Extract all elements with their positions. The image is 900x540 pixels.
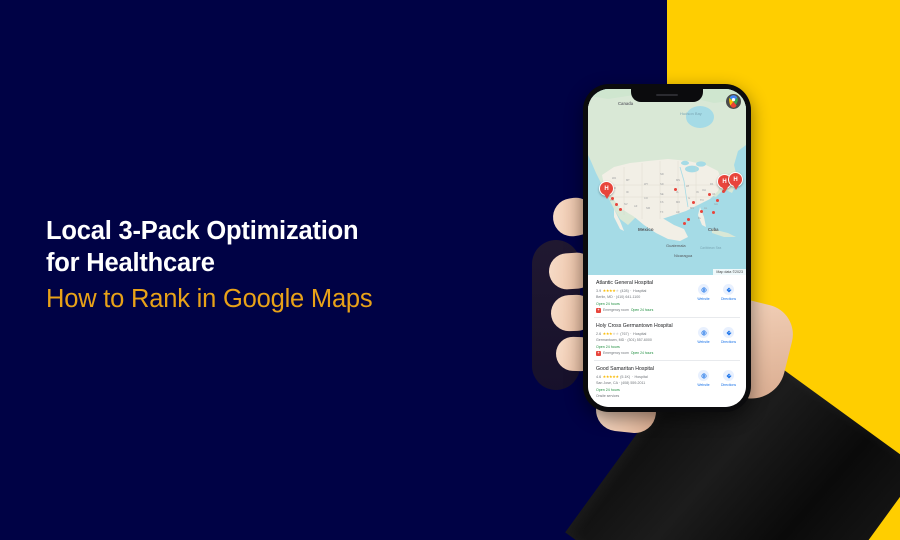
star-rating-icon: ★★★★★ xyxy=(603,289,619,294)
website-label: Website xyxy=(697,297,709,301)
svg-text:VA: VA xyxy=(712,192,716,196)
svg-text:Nicaragua: Nicaragua xyxy=(674,253,693,258)
title-line-2: for Healthcare xyxy=(46,249,215,277)
directions-button[interactable]: Directions xyxy=(719,370,738,387)
directions-icon xyxy=(723,370,734,381)
listing-actions: Website Directions xyxy=(694,366,738,387)
service-note: Onsite services xyxy=(596,394,691,399)
website-button[interactable]: Website xyxy=(694,327,713,344)
svg-text:KS: KS xyxy=(660,200,664,204)
directions-icon xyxy=(723,284,734,295)
attribute-label: Emergency room xyxy=(603,308,629,313)
svg-text:Cuba: Cuba xyxy=(708,227,719,232)
star-rating-icon: ★★★★★ xyxy=(603,375,619,380)
svg-text:MT: MT xyxy=(626,178,630,182)
listing-info: Holy Cross Germantown Hospital 2.6 ★★★★★… xyxy=(596,323,694,356)
svg-text:Hudson Bay: Hudson Bay xyxy=(680,111,702,116)
attribute-status: Open 24 hours xyxy=(631,308,653,313)
review-count: (5.1K) xyxy=(620,375,630,380)
earpiece-speaker xyxy=(656,94,678,96)
svg-text:WA: WA xyxy=(612,176,616,180)
map-pin-hospital-east-b[interactable]: H xyxy=(728,172,743,187)
directions-button[interactable]: Directions xyxy=(719,327,738,344)
list-item[interactable]: Holy Cross Germantown Hospital 2.6 ★★★★★… xyxy=(594,318,740,361)
business-address: Berlin, MD · (410) 641-1100 xyxy=(596,295,691,300)
listing-actions: Website Directions xyxy=(694,323,738,344)
directions-icon xyxy=(723,327,734,338)
page-title: Local 3-Pack Optimization for Healthcare xyxy=(46,215,476,279)
google-maps-icon[interactable] xyxy=(726,94,741,109)
dot-separator: · xyxy=(630,289,631,294)
smartphone-device: Canada Hudson Bay Mexico Cuba Guatemala … xyxy=(583,84,751,412)
open-status: Open 24 hours xyxy=(596,388,691,393)
map-pin-hospital-west[interactable]: H xyxy=(599,181,614,196)
svg-text:NV: NV xyxy=(624,202,628,206)
svg-text:ID: ID xyxy=(626,190,629,194)
directions-label: Directions xyxy=(721,383,736,387)
attribute-status: Open 24 hours xyxy=(631,351,653,356)
open-status: Open 24 hours xyxy=(596,345,691,350)
attribute-row: + Emergency room Open 24 hours xyxy=(596,308,691,313)
rating-row: 3.9 ★★★★★ (428) · Hospital xyxy=(596,289,691,294)
svg-text:Mexico: Mexico xyxy=(638,227,654,232)
globe-glyph xyxy=(701,373,707,379)
svg-text:MN: MN xyxy=(676,178,680,182)
business-category: Hospital xyxy=(633,332,646,337)
directions-glyph xyxy=(726,287,732,293)
business-category: Hospital xyxy=(633,289,646,294)
emergency-room-icon: + xyxy=(596,351,601,356)
phone-screen: Canada Hudson Bay Mexico Cuba Guatemala … xyxy=(588,89,746,407)
svg-text:PA: PA xyxy=(710,182,714,186)
review-count: (767) xyxy=(620,332,629,337)
website-button[interactable]: Website xyxy=(694,284,713,301)
globe-icon xyxy=(698,284,709,295)
svg-text:CO: CO xyxy=(644,196,648,200)
svg-text:NE: NE xyxy=(660,192,664,196)
list-item[interactable]: Good Samaritan Hospital 4.6 ★★★★★ (5.1K)… xyxy=(594,361,740,403)
business-address: San Jose, CA · (408) 559-2011 xyxy=(596,381,691,386)
list-item[interactable]: Atlantic General Hospital 3.9 ★★★★★ (428… xyxy=(594,275,740,318)
svg-text:AL: AL xyxy=(704,206,708,210)
svg-text:TN: TN xyxy=(700,198,704,202)
svg-text:SD: SD xyxy=(660,182,664,186)
svg-text:AZ: AZ xyxy=(634,204,638,208)
open-status: Open 24 hours xyxy=(596,302,691,307)
business-name: Atlantic General Hospital xyxy=(596,280,691,287)
map-attribution: Map data ©2023 xyxy=(713,269,746,275)
directions-glyph xyxy=(726,330,732,336)
svg-text:AR: AR xyxy=(676,210,680,214)
google-map[interactable]: Canada Hudson Bay Mexico Cuba Guatemala … xyxy=(588,89,746,275)
website-label: Website xyxy=(697,383,709,387)
svg-text:OH: OH xyxy=(702,188,706,192)
globe-icon xyxy=(698,370,709,381)
globe-glyph xyxy=(701,287,707,293)
directions-glyph xyxy=(726,373,732,379)
page-subtitle: How to Rank in Google Maps xyxy=(46,284,476,314)
phone-notch xyxy=(631,89,703,102)
listing-actions: Website Directions xyxy=(694,280,738,301)
svg-text:Guatemala: Guatemala xyxy=(666,243,686,248)
directions-label: Directions xyxy=(721,340,736,344)
business-name: Good Samaritan Hospital xyxy=(596,366,691,373)
business-name: Holy Cross Germantown Hospital xyxy=(596,323,691,330)
listing-info: Atlantic General Hospital 3.9 ★★★★★ (428… xyxy=(596,280,694,313)
website-label: Website xyxy=(697,340,709,344)
svg-text:Caribbean Sea: Caribbean Sea xyxy=(700,246,721,250)
headline-block: Local 3-Pack Optimization for Healthcare… xyxy=(46,215,476,314)
globe-glyph xyxy=(701,330,707,336)
emergency-room-icon: + xyxy=(596,308,601,313)
title-line-1: Local 3-Pack Optimization xyxy=(46,217,358,245)
listing-info: Good Samaritan Hospital 4.6 ★★★★★ (5.1K)… xyxy=(596,366,694,399)
svg-text:TX: TX xyxy=(660,210,664,214)
maps-pin-glyph xyxy=(726,94,741,109)
business-category: Hospital xyxy=(634,375,647,380)
rating-value: 3.9 xyxy=(596,289,601,294)
directions-label: Directions xyxy=(721,297,736,301)
svg-text:WI: WI xyxy=(686,184,689,188)
dot-separator: · xyxy=(630,332,631,337)
rating-value: 4.6 xyxy=(596,375,601,380)
globe-icon xyxy=(698,327,709,338)
svg-text:Canada: Canada xyxy=(618,101,634,106)
website-button[interactable]: Website xyxy=(694,370,713,387)
svg-text:WY: WY xyxy=(644,182,648,186)
rating-row: 4.6 ★★★★★ (5.1K) · Hospital xyxy=(596,375,691,380)
attribute-row: + Emergency room Open 24 hours xyxy=(596,351,691,356)
rating-value: 2.6 xyxy=(596,332,601,337)
star-rating-icon: ★★★★★ xyxy=(603,332,619,337)
attribute-label: Emergency room xyxy=(603,351,629,356)
local-pack-results: Atlantic General Hospital 3.9 ★★★★★ (428… xyxy=(588,275,746,407)
svg-text:IN: IN xyxy=(696,190,699,194)
dot-separator: · xyxy=(632,375,633,380)
svg-text:GA: GA xyxy=(714,202,718,206)
review-count: (428) xyxy=(620,289,629,294)
svg-text:NM: NM xyxy=(646,206,650,210)
svg-text:ND: ND xyxy=(660,172,664,176)
business-address: Germantown, MD · (301) 557-6000 xyxy=(596,338,691,343)
rating-row: 2.6 ★★★★★ (767) · Hospital xyxy=(596,332,691,337)
svg-text:MO: MO xyxy=(676,200,680,204)
directions-button[interactable]: Directions xyxy=(719,284,738,301)
svg-text:MS: MS xyxy=(690,206,694,210)
banner-stage: Local 3-Pack Optimization for Healthcare… xyxy=(0,0,900,540)
